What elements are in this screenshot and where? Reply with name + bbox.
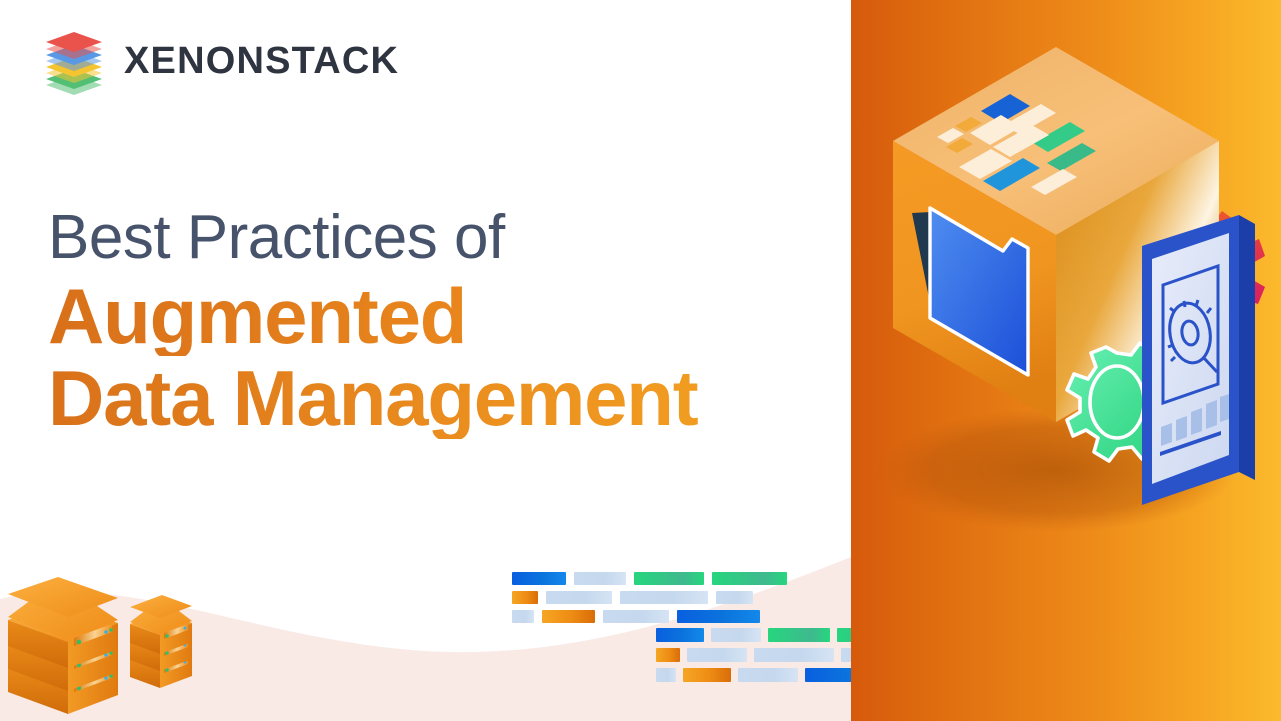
data-bar-pale [546,591,612,604]
data-bar-blue [512,572,566,585]
data-bar-gap [538,591,546,604]
data-bar-gap [830,628,837,642]
data-bar-gap [566,572,574,585]
data-bar-gap [708,591,716,604]
headline-line-3: Data Management [48,358,848,438]
data-bar-green [768,628,830,642]
data-bar-pale [716,591,753,604]
data-bar-blue [656,628,704,642]
data-bar-row [512,610,787,623]
data-bar-pale [656,668,676,682]
data-bar-orange [512,591,538,604]
data-bar-gap [704,628,711,642]
brand-name-text: XENONSTACK [124,42,399,80]
data-bar-row [512,572,787,585]
data-bar-gap [798,668,805,682]
data-bar-blue [677,610,760,623]
data-bar-blue [805,668,851,682]
data-bar-gap [595,610,603,623]
data-bar-gap [747,648,754,662]
data-bar-pale [574,572,626,585]
data-bar-row [512,591,787,604]
data-bar-pale [687,648,747,662]
page-title: Best Practices of Augmented Data Managem… [48,206,848,439]
data-bar-pale [841,648,851,662]
data-bar-pale [512,610,534,623]
data-bar-green [837,628,851,642]
stacked-layers-logo-icon [40,27,108,95]
data-bar-gap [834,648,841,662]
left-content-panel: XENONSTACK Best Practices of Augmented D… [0,0,851,721]
hero-banner: XENONSTACK Best Practices of Augmented D… [0,0,1281,721]
server-rack-stack-icon [0,572,230,721]
data-bars-group-a [512,572,787,629]
data-bar-pale [738,668,798,682]
data-bar-row [656,648,851,662]
data-bar-pale [754,648,834,662]
data-bar-gap [669,610,677,623]
data-bar-pale [711,628,761,642]
data-bar-pale [620,591,708,604]
data-bar-pale [603,610,669,623]
isometric-data-box-icon [851,0,1281,721]
brand-logo[interactable]: XENONSTACK [40,27,399,95]
data-bar-gap [534,610,542,623]
data-bar-orange [683,668,731,682]
data-bar-green [634,572,704,585]
headline-line-1: Best Practices of [48,206,848,270]
data-bar-gap [676,668,683,682]
data-bar-gap [626,572,634,585]
isometric-analytics-tablet-icon [1142,215,1255,505]
headline-line-2: Augmented [48,276,848,356]
data-bar-green [712,572,787,585]
data-bar-orange [542,610,595,623]
data-bar-row [656,668,851,682]
data-bars-group-b [656,628,851,688]
data-bar-gap [680,648,687,662]
illustration-panel [851,0,1281,721]
data-bar-gap [612,591,620,604]
data-bar-row [656,628,851,642]
data-bar-gap [731,668,738,682]
data-bar-gap [761,628,768,642]
data-bar-gap [704,572,712,585]
data-bar-orange [656,648,680,662]
